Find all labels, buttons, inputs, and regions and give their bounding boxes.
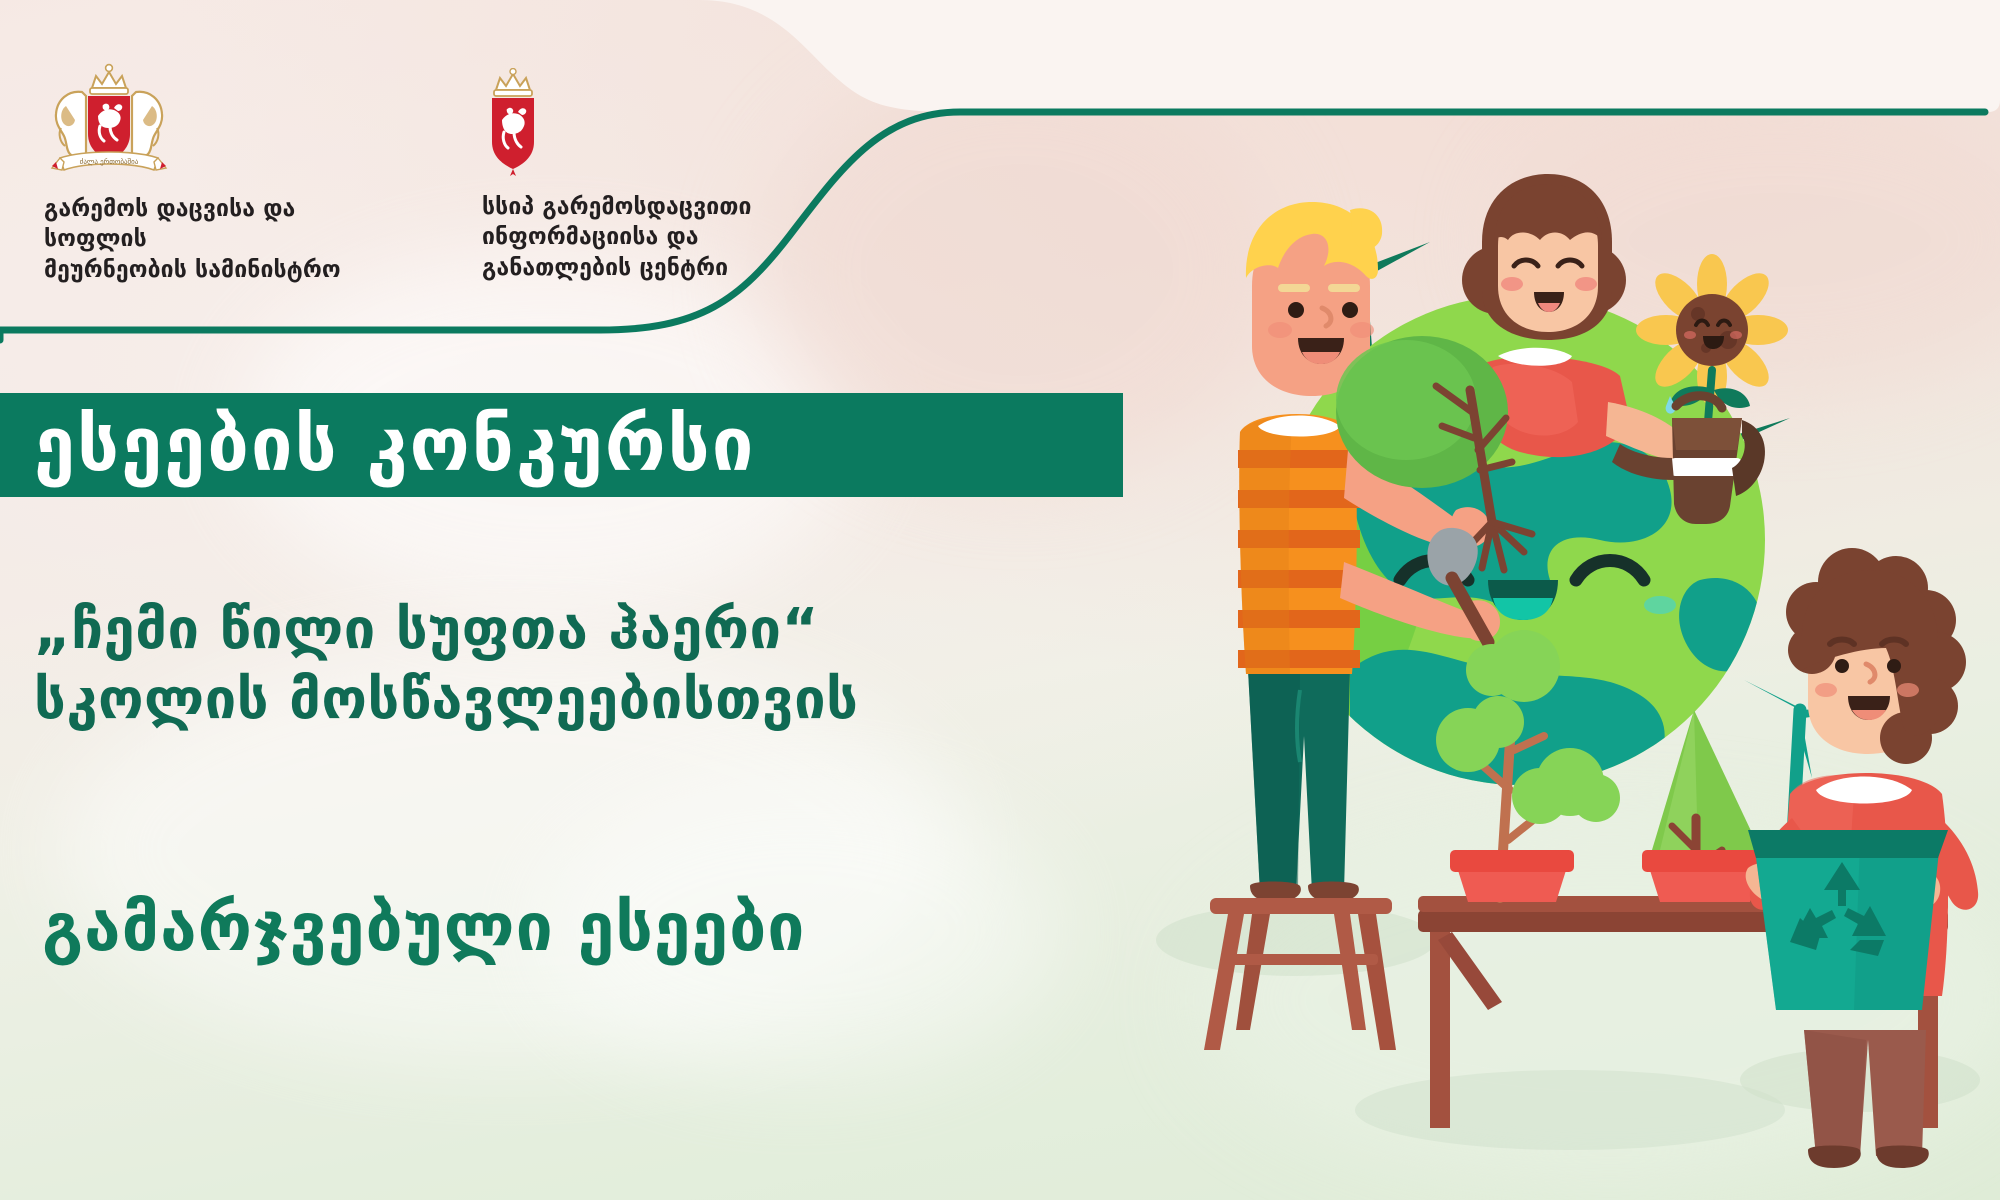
logo-center-caption-line2: ინფორმაციისა და — [482, 224, 699, 250]
logo-center: სსიპ გარემოსდაცვითი ინფორმაციისა და განა… — [482, 68, 842, 283]
small-georgian-shield-icon — [482, 68, 544, 180]
logo-center-caption-line3: განათლების ცენტრი — [482, 255, 728, 281]
bin-rim — [1748, 830, 1948, 858]
illustration-children-and-earth — [1100, 150, 2000, 1200]
bin-boy-shoe — [1808, 1146, 1861, 1169]
logo-ministry-caption: გარემოს დაცვისა და სოფლის მეურნეობის სამ… — [44, 194, 374, 285]
svg-text:ძალა ერთობაშია: ძალა ერთობაშია — [80, 157, 139, 166]
subtitle-line-2: სკოლის მოსწავლეებისთვის — [34, 665, 1194, 735]
georgia-coat-of-arms-icon: ძალა ერთობაშია — [44, 62, 174, 180]
logo-row: ძალა ერთობაშია გარემოს დაცვისა და სოფლის… — [0, 0, 900, 300]
recycling-bin — [1748, 830, 1948, 1010]
logo-ministry-caption-line2: მეურნეობის სამინისტრო — [44, 257, 341, 283]
subtitle-line-1: „ჩემი წილი სუფთა ჰაერი“ — [34, 597, 819, 662]
logo-ministry: ძალა ერთობაშია გარემოს დაცვისა და სოფლის… — [44, 62, 374, 285]
ground-shadow — [1156, 904, 1436, 976]
watering-can-band — [1670, 458, 1742, 476]
logo-center-caption-line1: სსიპ გარემოსდაცვითი — [482, 194, 752, 220]
bin-boy-shoe — [1876, 1146, 1929, 1169]
logo-center-caption: სსიპ გარემოსდაცვითი ინფორმაციისა და განა… — [482, 192, 842, 283]
ground-shadow — [1355, 1070, 1785, 1150]
logo-ministry-caption-line1: გარემოს დაცვისა და სოფლის — [44, 196, 295, 252]
poster-root: ძალა ერთობაშია გარემოს დაცვისა და სოფლის… — [0, 0, 2000, 1200]
page-title: ესეების კონკურსი — [0, 408, 755, 482]
title-banner: ესეების კონკურსი — [0, 393, 1123, 497]
winners-heading: გამარჯვებული ესეები — [42, 895, 1202, 961]
globe-blush — [1644, 596, 1676, 614]
subtitle: „ჩემი წილი სუფთა ჰაერი“ სკოლის მოსწავლეე… — [34, 595, 1194, 735]
